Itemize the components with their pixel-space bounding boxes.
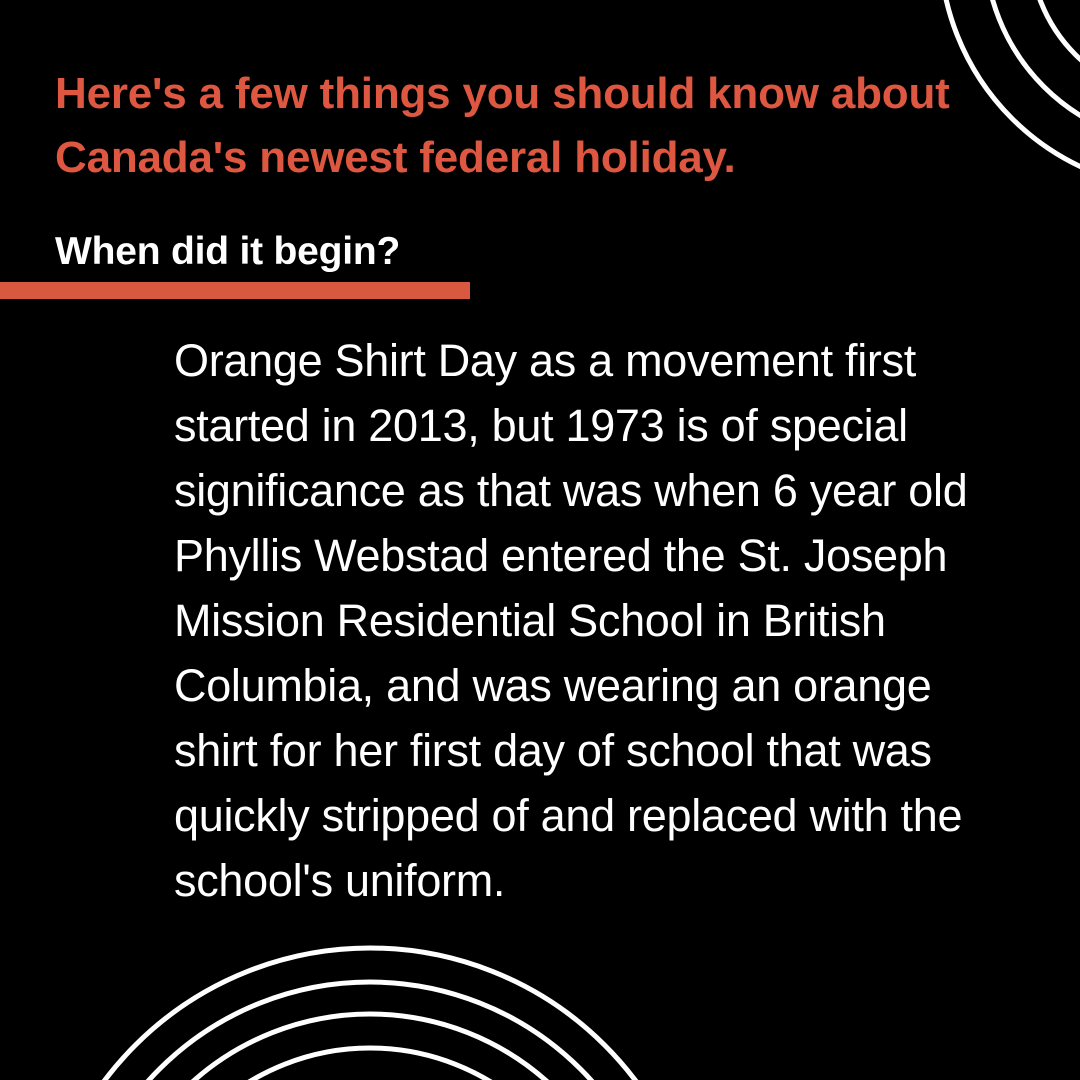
section-underline-bar: [0, 282, 470, 299]
poster-canvas: Here's a few things you should know abou…: [0, 0, 1080, 1080]
poster-content: Here's a few things you should know abou…: [0, 0, 1080, 1080]
section-heading: When did it begin?: [55, 228, 400, 276]
page-title: Here's a few things you should know abou…: [55, 62, 1015, 190]
body-paragraph: Orange Shirt Day as a movement first sta…: [174, 328, 984, 913]
